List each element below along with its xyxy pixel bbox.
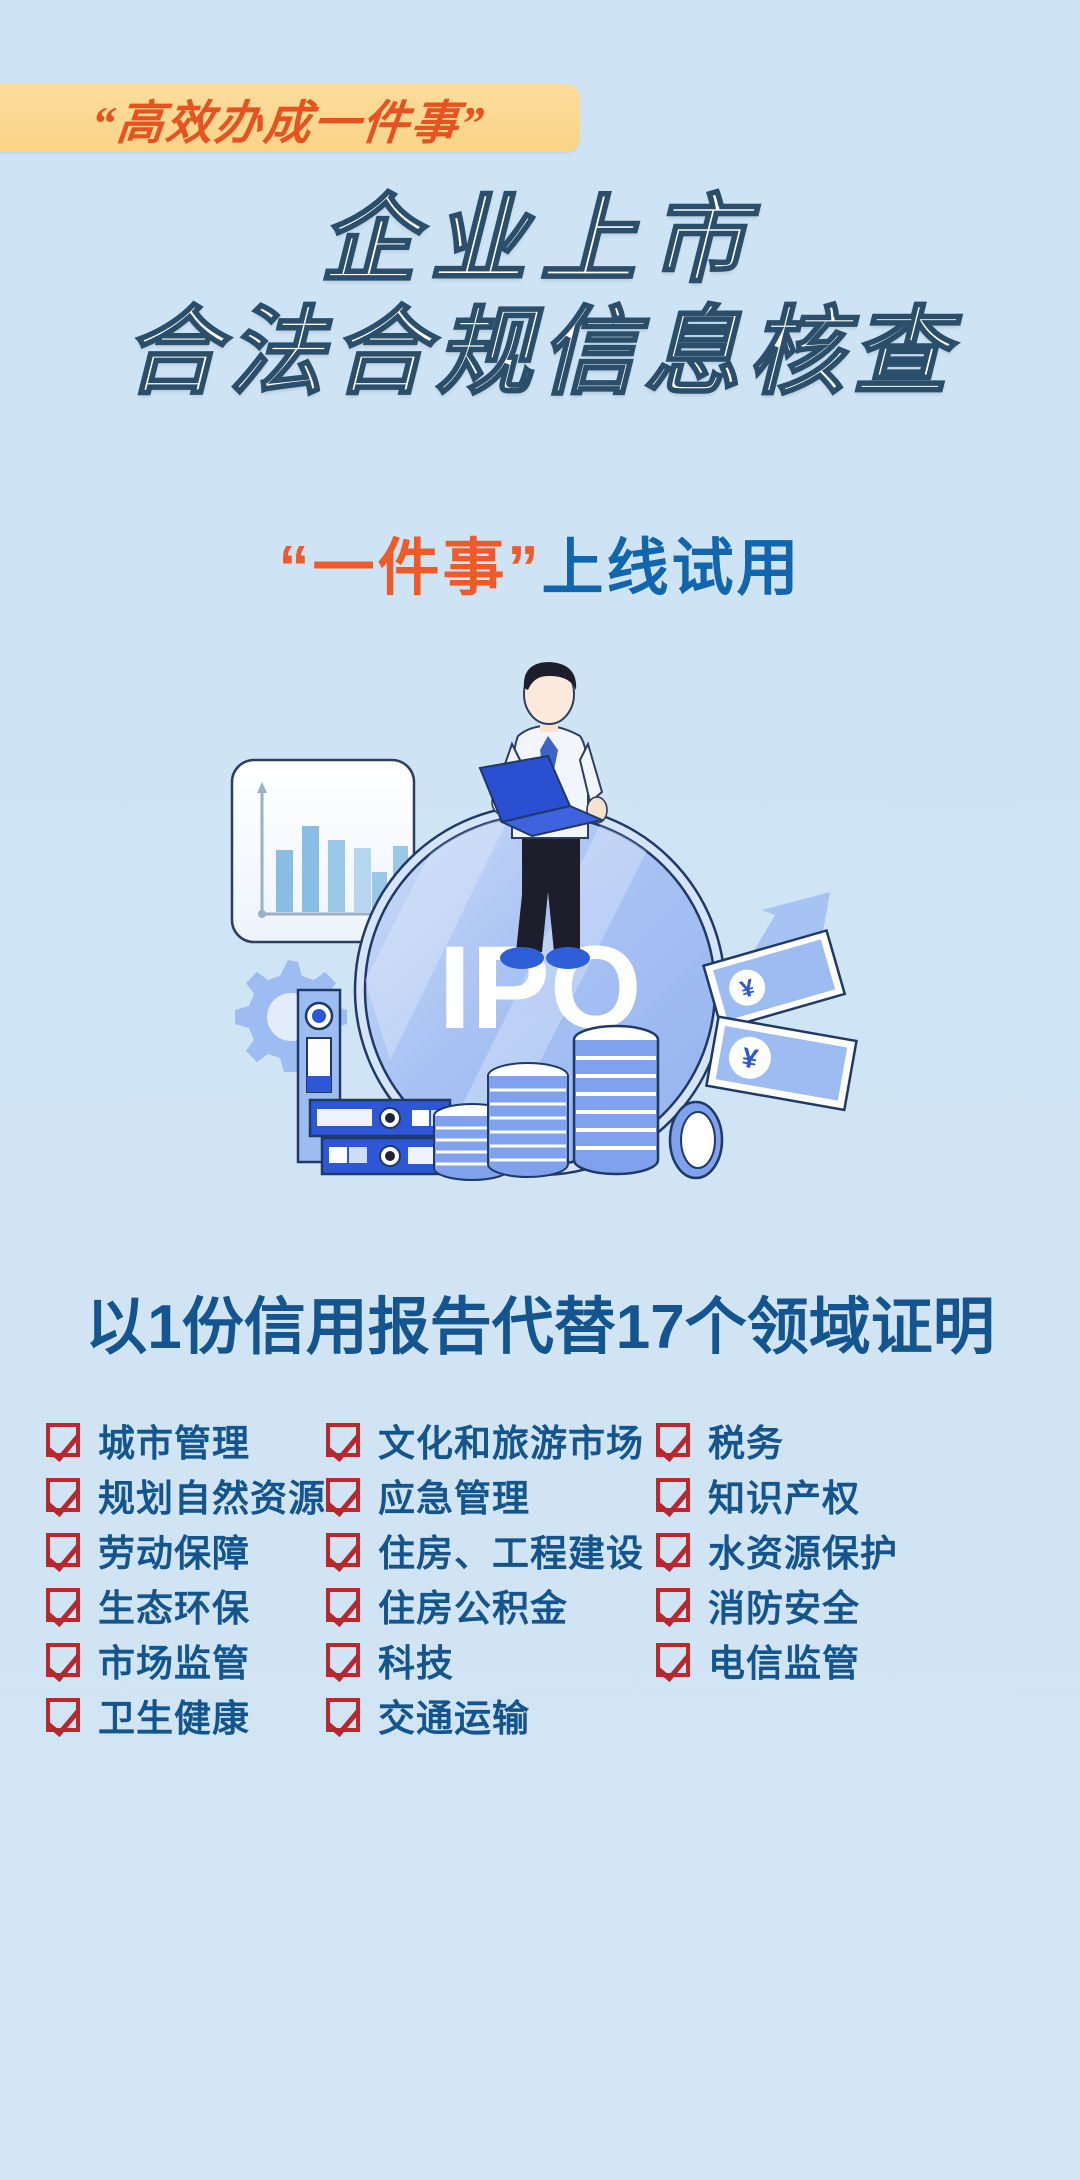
checklist-column-2: 文化和旅游市场 应急管理 住房、工程建设 住房公积金 科技 交通运输	[326, 1412, 656, 1742]
page-title-line-2: 合法合规信息核查	[0, 300, 1080, 406]
checkbox-checked-icon[interactable]	[46, 1533, 80, 1567]
list-item[interactable]: 知识产权	[656, 1467, 986, 1522]
checkbox-checked-icon[interactable]	[46, 1588, 80, 1622]
checkbox-checked-icon[interactable]	[46, 1478, 80, 1512]
poster-root: “高效办成一件事” 企业上市 合法合规信息核查 “一件事”上线试用	[0, 0, 1080, 2180]
subtitle-highlight: “一件事”	[278, 534, 541, 603]
checkbox-checked-icon[interactable]	[326, 1533, 360, 1567]
checkbox-checked-icon[interactable]	[656, 1643, 690, 1677]
checkbox-checked-icon[interactable]	[326, 1478, 360, 1512]
list-item[interactable]: 卫生健康	[46, 1687, 326, 1742]
list-item[interactable]: 规划自然资源	[46, 1467, 326, 1522]
list-item-label: 交通运输	[378, 1688, 530, 1742]
page-title: 企业上市 合法合规信息核查	[0, 188, 1080, 405]
checkbox-checked-icon[interactable]	[46, 1698, 80, 1732]
list-item[interactable]: 城市管理	[46, 1412, 326, 1467]
page-title-line-1: 企业上市	[0, 188, 1080, 294]
list-item-label: 文化和旅游市场	[378, 1413, 644, 1467]
list-item-label: 生态环保	[98, 1578, 250, 1632]
checkbox-checked-icon[interactable]	[326, 1423, 360, 1457]
list-item-label: 电信监管	[708, 1633, 860, 1687]
checkbox-checked-icon[interactable]	[326, 1698, 360, 1732]
checkbox-checked-icon[interactable]	[326, 1643, 360, 1677]
list-item[interactable]: 科技	[326, 1632, 656, 1687]
domain-checklist: 城市管理 规划自然资源 劳动保障 生态环保 市场监管 卫生健康	[46, 1412, 1046, 1742]
checkbox-checked-icon[interactable]	[656, 1478, 690, 1512]
list-item-label: 税务	[708, 1413, 784, 1467]
subtitle-rest: 上线试用	[542, 534, 802, 603]
list-item[interactable]: 税务	[656, 1412, 986, 1467]
list-item[interactable]: 劳动保障	[46, 1522, 326, 1577]
campaign-ribbon-label: “高效办成一件事”	[88, 84, 489, 153]
checkbox-checked-icon[interactable]	[656, 1423, 690, 1457]
list-item[interactable]: 文化和旅游市场	[326, 1412, 656, 1467]
list-item[interactable]: 消防安全	[656, 1577, 986, 1632]
campaign-ribbon: “高效办成一件事”	[0, 84, 580, 152]
checkbox-checked-icon[interactable]	[656, 1588, 690, 1622]
checkbox-checked-icon[interactable]	[656, 1533, 690, 1567]
headline: 以1份信用报告代替17个领域证明	[0, 1276, 1080, 1366]
list-item[interactable]: 电信监管	[656, 1632, 986, 1687]
list-item-label: 水资源保护	[708, 1523, 898, 1577]
list-item[interactable]: 住房公积金	[326, 1577, 656, 1632]
list-item-label: 市场监管	[98, 1633, 250, 1687]
checkbox-checked-icon[interactable]	[326, 1588, 360, 1622]
list-item-label: 卫生健康	[98, 1688, 250, 1742]
list-item-label: 劳动保障	[98, 1523, 250, 1577]
list-item-label: 规划自然资源	[98, 1468, 326, 1522]
checklist-column-1: 城市管理 规划自然资源 劳动保障 生态环保 市场监管 卫生健康	[46, 1412, 326, 1742]
list-item-label: 知识产权	[708, 1468, 860, 1522]
list-item-label: 科技	[378, 1633, 454, 1687]
list-item-label: 消防安全	[708, 1578, 860, 1632]
list-item[interactable]: 水资源保护	[656, 1522, 986, 1577]
hero-illustration: IPO	[150, 660, 950, 1220]
yen-banknotes-icon: ¥ ¥	[704, 930, 857, 1109]
checkbox-checked-icon[interactable]	[46, 1643, 80, 1677]
subtitle: “一件事”上线试用	[0, 538, 1080, 600]
checklist-column-3: 税务 知识产权 水资源保护 消防安全 电信监管	[656, 1412, 986, 1742]
list-item-label: 住房、工程建设	[378, 1523, 644, 1577]
list-item[interactable]: 应急管理	[326, 1467, 656, 1522]
list-item[interactable]: 生态环保	[46, 1577, 326, 1632]
list-item-label: 城市管理	[98, 1413, 250, 1467]
checkbox-checked-icon[interactable]	[46, 1423, 80, 1457]
list-item[interactable]: 市场监管	[46, 1632, 326, 1687]
list-item-label: 住房公积金	[378, 1578, 568, 1632]
list-item-label: 应急管理	[378, 1468, 530, 1522]
list-item[interactable]: 住房、工程建设	[326, 1522, 656, 1577]
list-item[interactable]: 交通运输	[326, 1687, 656, 1742]
